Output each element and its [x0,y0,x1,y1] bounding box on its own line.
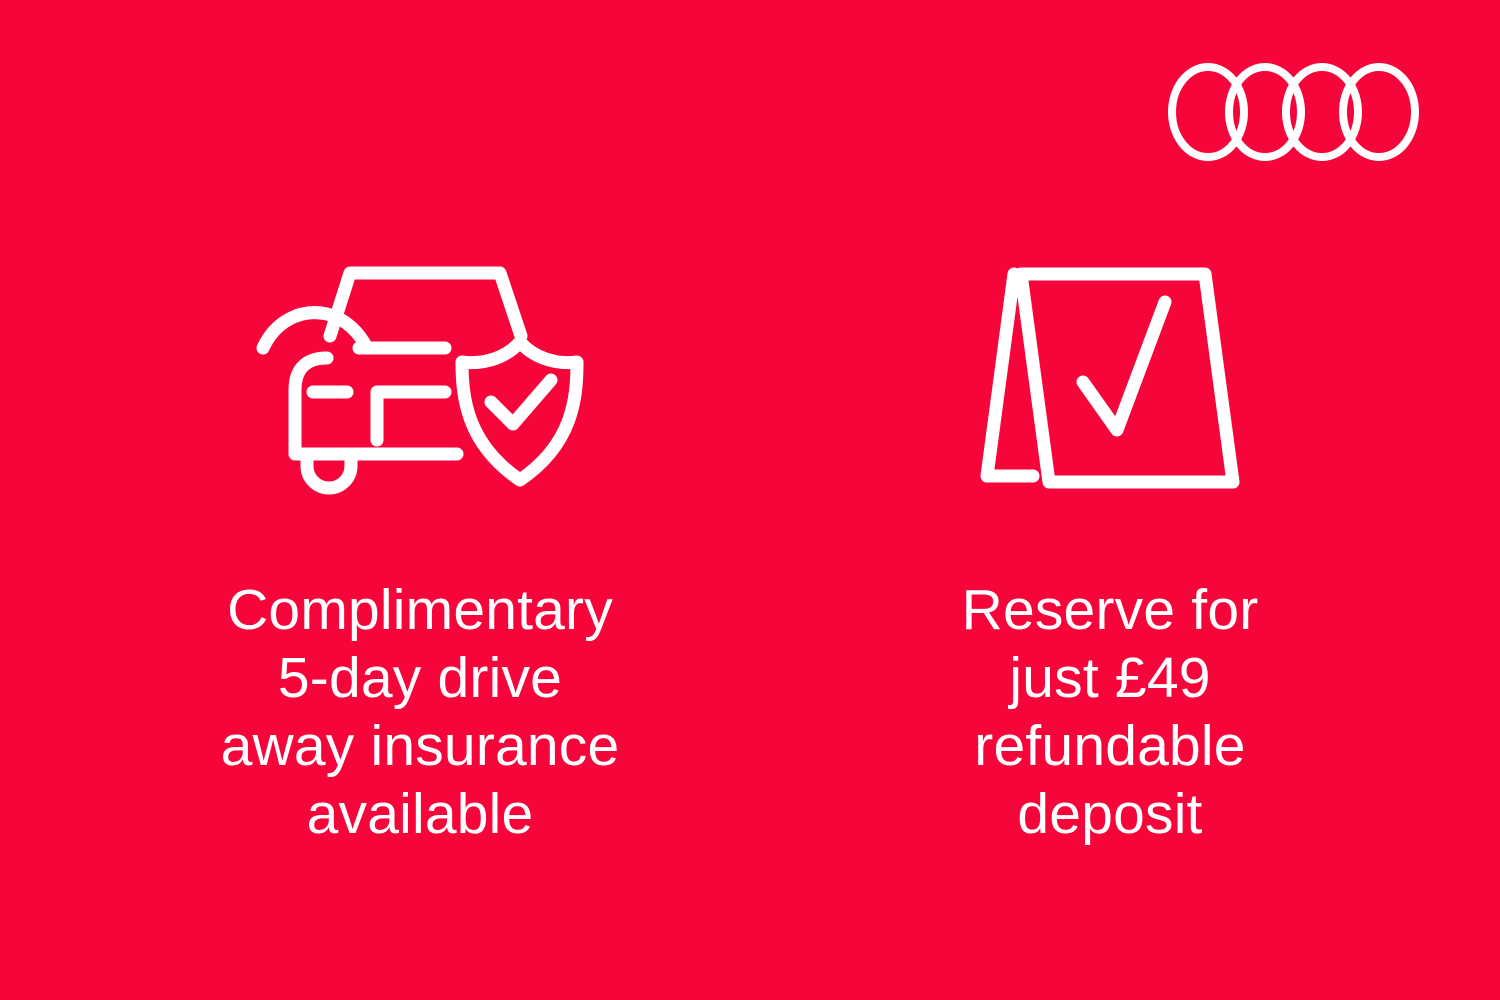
tent-checkmark [1083,302,1165,430]
car-shield-insurance-icon [255,258,585,508]
tent-card-checkmark-icon [965,258,1255,508]
tent-front-panel [1021,274,1233,482]
car-grille [377,392,445,440]
promo-banner: Complimentary 5-day drive away insurance… [0,0,1500,1000]
feature-item-deposit: Reserve for just £49 refundable deposit [800,0,1420,848]
feature-item-insurance: Complimentary 5-day drive away insurance… [40,0,800,848]
tent-card-checkmark-svg [965,258,1255,498]
car-bonnet-outer [263,313,367,348]
feature-caption-insurance: Complimentary 5-day drive away insurance… [70,576,770,848]
car-shield-insurance-svg [255,258,585,498]
feature-caption-deposit: Reserve for just £49 refundable deposit [830,576,1390,848]
shield-checkmark [491,380,551,424]
feature-list: Complimentary 5-day drive away insurance… [0,0,1500,1000]
